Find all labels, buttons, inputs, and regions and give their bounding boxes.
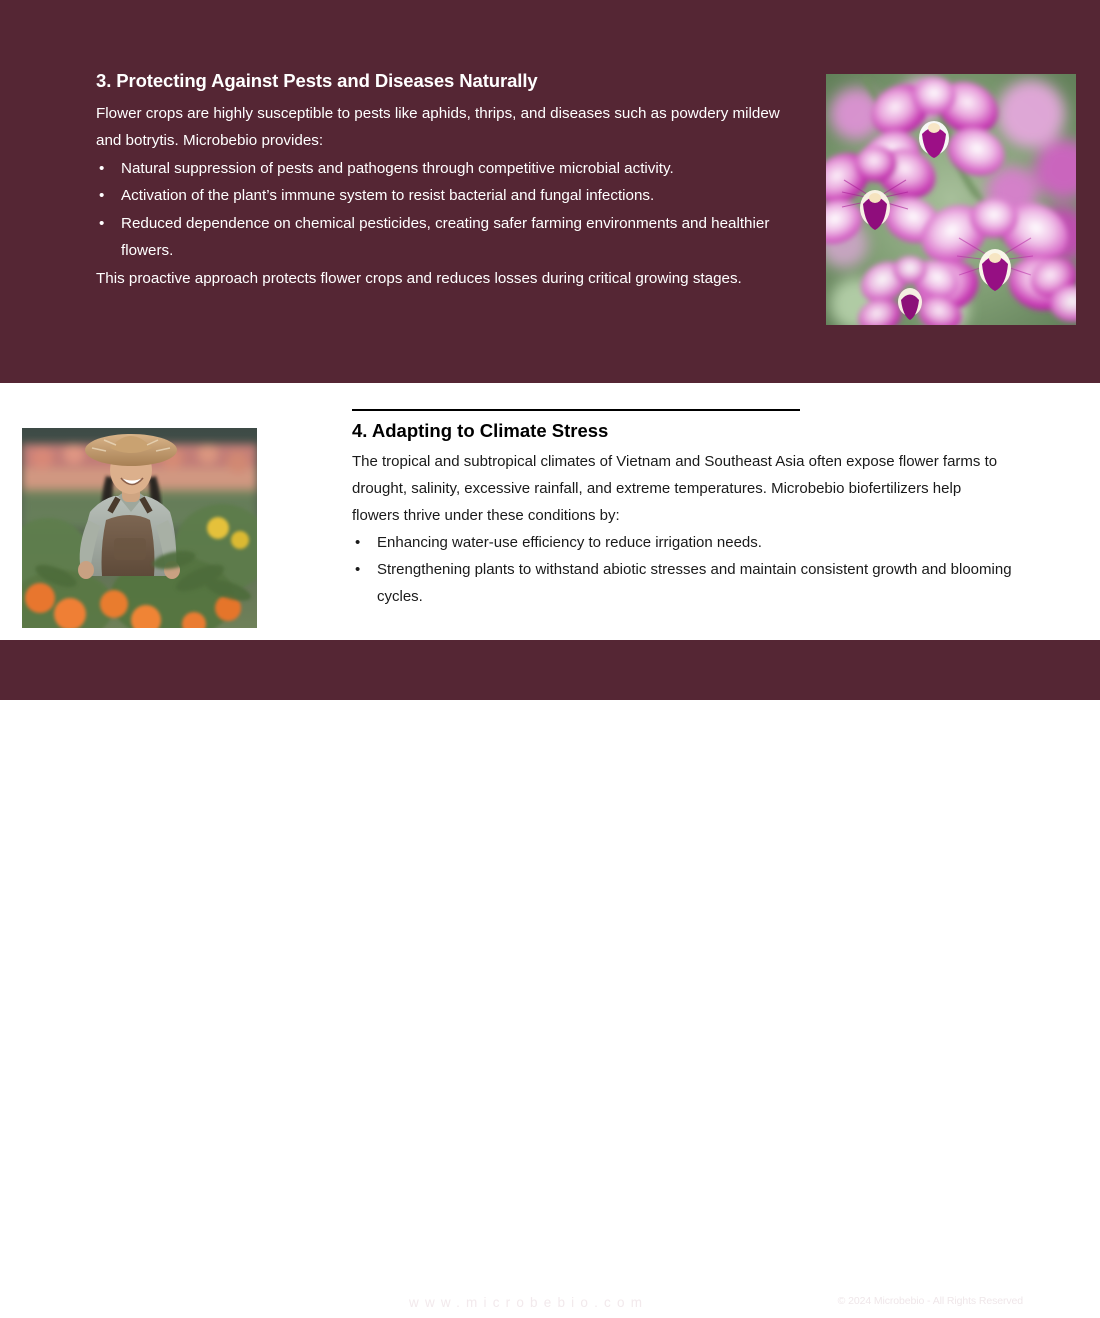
list-item-label: Strengthening plants to withstand abioti… — [377, 561, 1012, 605]
section-3-heading: 3. Protecting Against Pests and Diseases… — [96, 69, 796, 94]
orchid-illustration — [826, 74, 1076, 325]
section-4-divider — [352, 409, 800, 411]
farmer-illustration — [22, 428, 257, 628]
list-item-label: Natural suppression of pests and pathoge… — [121, 160, 674, 177]
footer-divider — [1040, 1288, 1042, 1318]
section-3-block: 3. Protecting Against Pests and Diseases… — [96, 69, 796, 292]
section-3-closing-paragraph: This proactive approach protects flower … — [96, 265, 796, 293]
list-item: • Strengthening plants to withstand abio… — [352, 556, 1012, 610]
list-item-label: Reduced dependence on chemical pesticide… — [121, 215, 769, 260]
page-number: 5 — [1062, 1292, 1070, 1309]
section-4-heading: 4. Adapting to Climate Stress — [352, 419, 1012, 443]
section-4-block: 4. Adapting to Climate Stress The tropic… — [352, 409, 1012, 610]
bullet-icon: • — [355, 556, 360, 583]
section-3-bullet-list: • Natural suppression of pests and patho… — [96, 155, 796, 265]
footer-website-url[interactable]: www.microbebio.com — [409, 1295, 648, 1310]
bullet-icon: • — [99, 210, 104, 238]
list-item: • Enhancing water-use efficiency to redu… — [352, 529, 1012, 556]
list-item: • Activation of the plant’s immune syste… — [96, 182, 796, 210]
section-3-paragraph: Flower crops are highly susceptible to p… — [96, 100, 796, 155]
section-4-bullet-list: • Enhancing water-use efficiency to redu… — [352, 529, 1012, 610]
footer-copyright: © 2024 Microbebio - All Rights Reserved — [838, 1295, 1023, 1307]
top-maroon-panel: 3. Protecting Against Pests and Diseases… — [0, 0, 1100, 383]
section-4-paragraph: The tropical and subtropical climates of… — [352, 448, 1012, 529]
list-item: • Natural suppression of pests and patho… — [96, 155, 796, 183]
list-item-label: Enhancing water-use efficiency to reduce… — [377, 534, 762, 551]
footer-bar: www.microbebio.com © 2024 Microbebio - A… — [0, 640, 1100, 700]
farmer-image — [22, 428, 257, 628]
slide-root: 3. Protecting Against Pests and Diseases… — [0, 0, 1100, 700]
list-item: • Reduced dependence on chemical pestici… — [96, 210, 796, 265]
bullet-icon: • — [99, 155, 104, 183]
list-item-label: Activation of the plant’s immune system … — [121, 187, 654, 204]
bullet-icon: • — [355, 529, 360, 556]
orchid-image — [826, 74, 1076, 325]
bullet-icon: • — [99, 182, 104, 210]
